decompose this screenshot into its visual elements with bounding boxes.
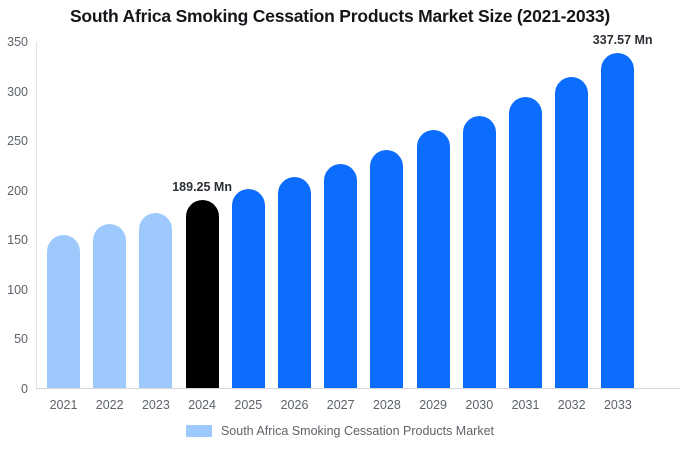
bar-2032[interactable] bbox=[555, 77, 588, 388]
y-axis-tick-label: 0 bbox=[21, 382, 28, 396]
bar-2026[interactable] bbox=[278, 177, 311, 388]
bar-2029[interactable] bbox=[417, 130, 450, 388]
bar-2022[interactable] bbox=[93, 224, 126, 388]
bar-2030[interactable] bbox=[463, 116, 496, 388]
bar-2033[interactable] bbox=[601, 53, 634, 388]
x-axis-tick-label-2025: 2025 bbox=[234, 398, 262, 412]
x-axis-tick-label-2024: 2024 bbox=[188, 398, 216, 412]
x-axis-tick-label-2028: 2028 bbox=[373, 398, 401, 412]
x-axis-tick-label-2030: 2030 bbox=[465, 398, 493, 412]
bar-2024[interactable] bbox=[186, 200, 219, 388]
x-axis-line bbox=[36, 388, 680, 389]
y-axis-tick-label: 50 bbox=[14, 332, 28, 346]
legend-label: South Africa Smoking Cessation Products … bbox=[221, 424, 494, 438]
chart-title: South Africa Smoking Cessation Products … bbox=[0, 6, 680, 27]
bar-2021[interactable] bbox=[47, 235, 80, 388]
y-axis-tick-label: 300 bbox=[7, 85, 28, 99]
x-axis-tick-label-2023: 2023 bbox=[142, 398, 170, 412]
bar-2031[interactable] bbox=[509, 97, 542, 388]
x-axis-tick-label-2032: 2032 bbox=[558, 398, 586, 412]
y-axis-tick-label: 350 bbox=[7, 35, 28, 49]
bar-2025[interactable] bbox=[232, 189, 265, 388]
bar-2023[interactable] bbox=[139, 213, 172, 388]
x-axis-tick-label-2029: 2029 bbox=[419, 398, 447, 412]
x-axis-tick-label-2026: 2026 bbox=[281, 398, 309, 412]
chart-container: South Africa Smoking Cessation Products … bbox=[0, 0, 680, 450]
y-axis-tick-label: 150 bbox=[7, 233, 28, 247]
x-axis-tick-label-2033: 2033 bbox=[604, 398, 632, 412]
y-axis-tick-label: 100 bbox=[7, 283, 28, 297]
y-axis-tick-label: 250 bbox=[7, 134, 28, 148]
bar-2027[interactable] bbox=[324, 164, 357, 388]
plot-area: 050100150200250300350 202120222023202420… bbox=[36, 42, 680, 389]
x-axis-tick-label-2027: 2027 bbox=[327, 398, 355, 412]
bar-2028[interactable] bbox=[370, 150, 403, 388]
chart-legend: South Africa Smoking Cessation Products … bbox=[0, 424, 680, 438]
x-axis-tick-label-2031: 2031 bbox=[512, 398, 540, 412]
value-label-2024: 189.25 Mn bbox=[172, 180, 232, 194]
y-axis-line bbox=[36, 42, 37, 389]
legend-swatch-icon bbox=[186, 425, 212, 437]
x-axis-tick-label-2021: 2021 bbox=[50, 398, 78, 412]
value-label-2033: 337.57 Mn bbox=[593, 33, 653, 47]
x-axis-tick-label-2022: 2022 bbox=[96, 398, 124, 412]
y-axis-tick-label: 200 bbox=[7, 184, 28, 198]
